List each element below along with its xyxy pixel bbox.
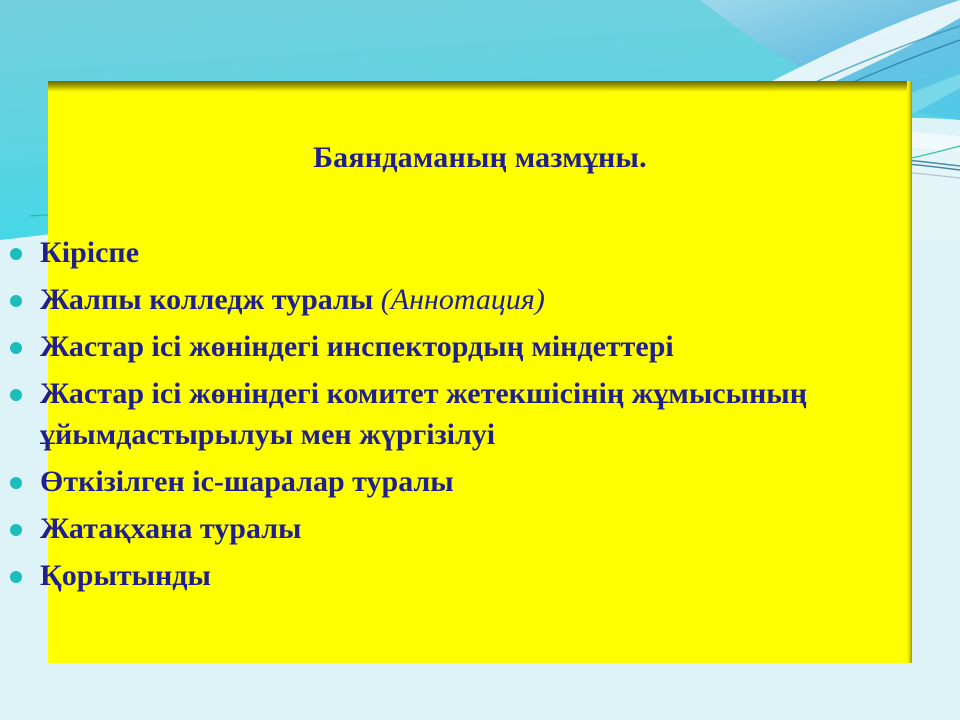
list-item-label: Жастар ісі жөніндегі инспектордың міндет… xyxy=(40,330,674,363)
list-item-label: Жалпы колледж туралы xyxy=(40,283,381,316)
list-item-label: Қорытынды xyxy=(40,559,211,592)
list-item-label: Кіріспе xyxy=(40,236,139,269)
list-item: Кіріспе xyxy=(0,232,864,273)
list-item-label: Өткізілген іс-шаралар туралы xyxy=(40,465,454,498)
list-item-label: Жатақхана туралы xyxy=(40,512,301,545)
bullet-dot-icon xyxy=(10,524,22,536)
list-item: Жастар ісі жөніндегі инспектордың міндет… xyxy=(0,326,864,367)
table-of-contents-list: Кіріспе Жалпы колледж туралы (Аннотация)… xyxy=(0,232,864,602)
list-item: Жастар ісі жөніндегі комитет жетекшісіні… xyxy=(0,373,864,455)
bullet-dot-icon xyxy=(10,295,22,307)
list-item: Жатақхана туралы xyxy=(0,508,864,549)
list-item: Жалпы колледж туралы (Аннотация) xyxy=(0,279,864,320)
page-title: Баяндаманың мазмұны. xyxy=(0,140,960,176)
bullet-dot-icon xyxy=(10,477,22,489)
presentation-slide: Баяндаманың мазмұны. Кіріспе Жалпы колле… xyxy=(0,0,960,720)
list-item: Қорытынды xyxy=(0,555,864,596)
bullet-dot-icon xyxy=(10,342,22,354)
list-item: Өткізілген іс-шаралар туралы xyxy=(0,461,864,502)
list-item-label: Жастар ісі жөніндегі комитет жетекшісіні… xyxy=(40,377,807,451)
bullet-dot-icon xyxy=(10,248,22,260)
bullet-dot-icon xyxy=(10,571,22,583)
list-item-note: (Аннотация) xyxy=(381,283,545,316)
bullet-dot-icon xyxy=(10,389,22,401)
